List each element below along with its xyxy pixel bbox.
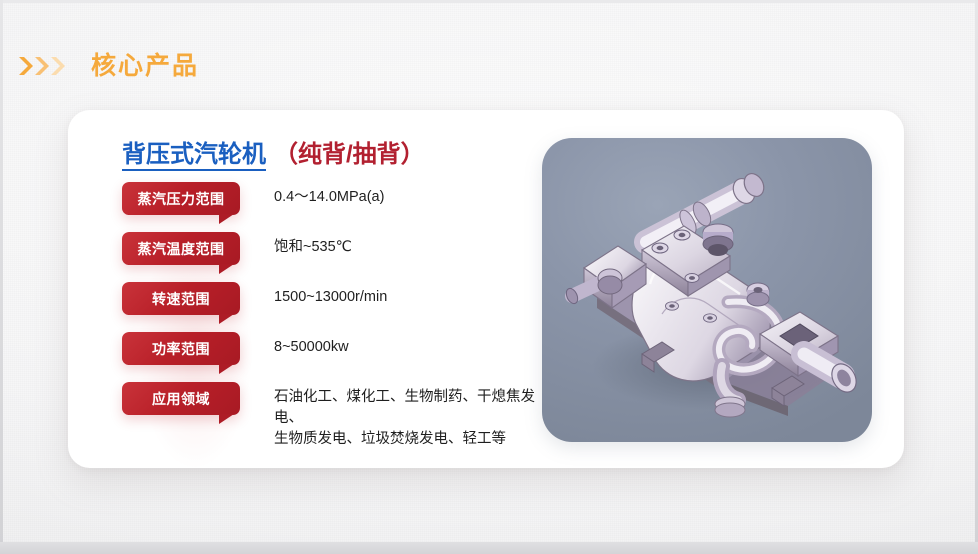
spec-value: 石油化工、煤化工、生物制药、干熄焦发电、 生物质发电、垃圾焚烧发电、轻工等 bbox=[250, 378, 552, 450]
product-title-variant: （纯背/抽背） bbox=[274, 141, 425, 168]
spec-label-badge: 应用领域 bbox=[122, 382, 240, 415]
spec-label-badge: 转速范围 bbox=[122, 282, 240, 315]
spec-value: 0.4～14.0MPa(a) bbox=[250, 178, 552, 208]
back-pressure-steam-turbine-3d-render bbox=[542, 138, 872, 442]
spec-label-badge: 蒸汽温度范围 bbox=[122, 232, 240, 265]
spec-value: 1500~13000r/min bbox=[250, 278, 552, 308]
section-header: 核心产品 bbox=[0, 44, 199, 88]
spec-badge-wrap: 功率范围 bbox=[122, 328, 250, 365]
spec-badge-wrap: 蒸汽压力范围 bbox=[122, 178, 250, 215]
spec-badge-wrap: 转速范围 bbox=[122, 278, 250, 315]
spec-badge-wrap: 蒸汽温度范围 bbox=[122, 228, 250, 265]
spec-value: 饱和~535℃ bbox=[250, 228, 552, 258]
spec-row: 转速范围 1500~13000r/min bbox=[122, 278, 552, 328]
slide-edge-top bbox=[0, 0, 978, 3]
spec-row: 应用领域 石油化工、煤化工、生物制药、干熄焦发电、 生物质发电、垃圾焚烧发电、轻… bbox=[122, 378, 552, 434]
spec-column: 背压式汽轮机（纯背/抽背） 蒸汽压力范围 0.4～14.0MPa(a) 蒸汽温度… bbox=[122, 142, 552, 434]
chevron-right-icon-3 bbox=[50, 55, 65, 77]
slide-canvas: 核心产品 背压式汽轮机（纯背/抽背） 蒸汽压力范围 0.4～14.0MPa(a)… bbox=[0, 0, 978, 554]
slide-edge-bottom bbox=[0, 542, 978, 554]
product-card: 背压式汽轮机（纯背/抽背） 蒸汽压力范围 0.4～14.0MPa(a) 蒸汽温度… bbox=[68, 110, 904, 468]
spec-label-badge: 蒸汽压力范围 bbox=[122, 182, 240, 215]
spec-row: 功率范围 8~50000kw bbox=[122, 328, 552, 378]
product-title: 背压式汽轮机（纯背/抽背） bbox=[122, 142, 552, 168]
spec-row: 蒸汽压力范围 0.4～14.0MPa(a) bbox=[122, 178, 552, 228]
product-title-main: 背压式汽轮机 bbox=[122, 141, 266, 171]
page-title: 核心产品 bbox=[91, 54, 199, 79]
chevron-right-icon-1 bbox=[18, 55, 33, 77]
spec-label-badge: 功率范围 bbox=[122, 332, 240, 365]
spec-value: 8~50000kw bbox=[250, 328, 552, 358]
spec-row: 蒸汽温度范围 饱和~535℃ bbox=[122, 228, 552, 278]
chevron-right-icon-2 bbox=[34, 55, 49, 77]
double-chevron-right-icon bbox=[18, 55, 65, 77]
spec-badge-wrap: 应用领域 bbox=[122, 378, 250, 415]
